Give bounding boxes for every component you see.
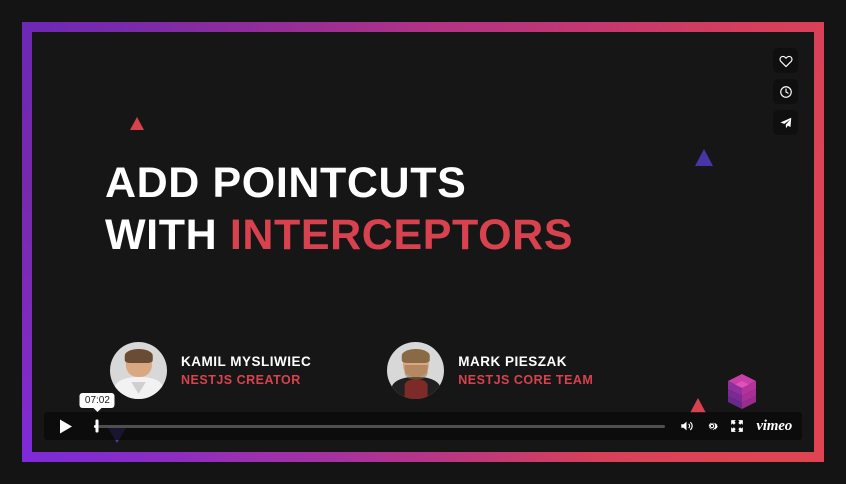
triangle-red-top-left-icon	[130, 117, 144, 130]
action-buttons	[773, 48, 798, 135]
avatar	[110, 342, 167, 399]
progress-bar[interactable]: 07:02	[88, 412, 675, 440]
vimeo-logo[interactable]: vimeo	[756, 418, 792, 435]
slide-content: ADD POINTCUTS WITH INTERCEPTORS KAMIL	[32, 32, 814, 452]
presenter-name: KAMIL MYSLIWIEC	[181, 352, 311, 372]
presenter-text: MARK PIESZAK NESTJS CORE TEAM	[458, 352, 593, 390]
right-controls: vimeo	[675, 412, 802, 440]
gradient-frame: ADD POINTCUTS WITH INTERCEPTORS KAMIL	[22, 22, 824, 462]
share-button[interactable]	[773, 110, 798, 135]
progress-handle[interactable]	[96, 420, 99, 433]
clock-icon	[779, 85, 793, 99]
volume-icon	[679, 419, 694, 433]
title-line-2-plain: WITH	[105, 211, 230, 259]
triangle-red-bottom-right-icon	[690, 398, 706, 413]
title-line-2: WITH INTERCEPTORS	[105, 209, 573, 261]
slide-title: ADD POINTCUTS WITH INTERCEPTORS	[105, 157, 573, 262]
presenter-role: NESTJS CREATOR	[181, 371, 311, 389]
video-player-page: ADD POINTCUTS WITH INTERCEPTORS KAMIL	[0, 0, 846, 484]
title-line-1: ADD POINTCUTS	[105, 157, 573, 209]
presenter-item: KAMIL MYSLIWIEC NESTJS CREATOR	[110, 342, 311, 399]
avatar-hair	[402, 349, 431, 363]
presenter-text: KAMIL MYSLIWIEC NESTJS CREATOR	[181, 352, 311, 390]
avatar	[387, 342, 444, 399]
fullscreen-icon	[730, 419, 744, 433]
play-icon	[59, 419, 73, 434]
triangle-blue-icon	[695, 149, 713, 166]
presenter-item: MARK PIESZAK NESTJS CORE TEAM	[387, 342, 593, 399]
video-stage[interactable]: ADD POINTCUTS WITH INTERCEPTORS KAMIL	[32, 32, 814, 452]
avatar-shirt	[404, 380, 427, 399]
title-line-2-accent: INTERCEPTORS	[230, 211, 573, 259]
play-button[interactable]	[44, 412, 88, 440]
presenter-role: NESTJS CORE TEAM	[458, 371, 593, 389]
avatar-beard	[404, 365, 427, 380]
gear-icon	[705, 419, 719, 433]
fullscreen-button[interactable]	[730, 419, 744, 433]
progress-track[interactable]: 07:02	[94, 425, 665, 428]
settings-button[interactable]	[705, 419, 719, 433]
share-icon	[779, 116, 793, 130]
like-button[interactable]	[773, 48, 798, 73]
time-tooltip: 07:02	[80, 393, 115, 408]
watch-later-button[interactable]	[773, 79, 798, 104]
presenter-name: MARK PIESZAK	[458, 352, 593, 372]
heart-icon	[779, 54, 793, 68]
presenter-list: KAMIL MYSLIWIEC NESTJS CREATOR	[110, 342, 593, 399]
player-controls: 07:02	[44, 412, 802, 440]
volume-button[interactable]	[679, 419, 694, 433]
avatar-hair	[124, 349, 153, 363]
nestjs-cube-logo	[725, 372, 759, 410]
